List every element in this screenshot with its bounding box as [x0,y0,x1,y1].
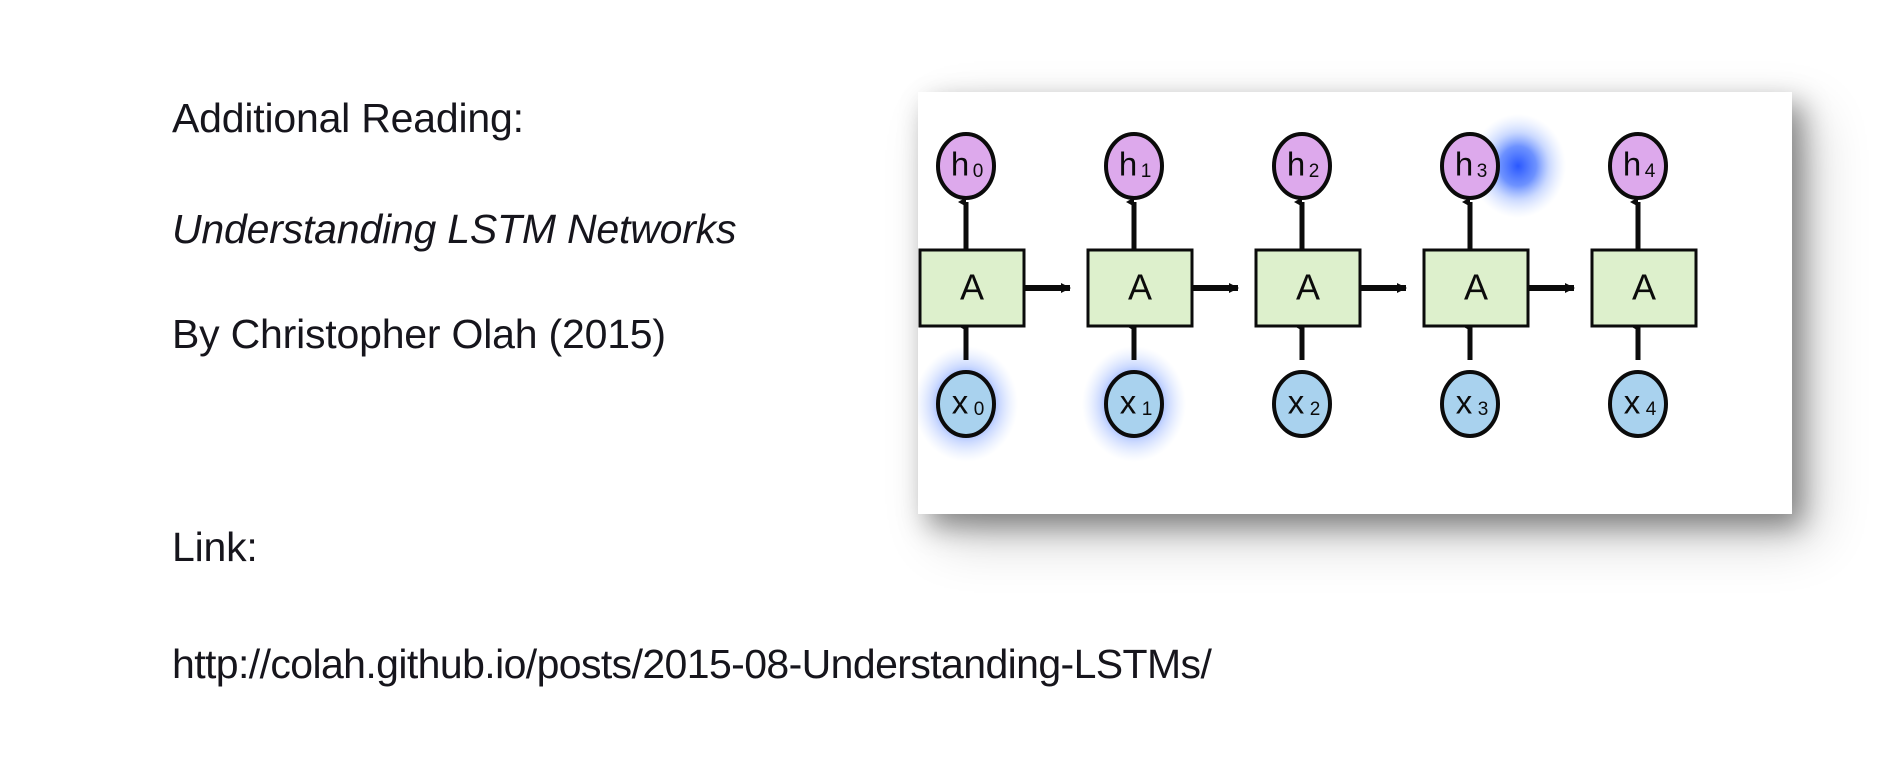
input-node-x1: x 1 [1106,372,1162,436]
rnn-cell-2-label: A [1296,267,1320,308]
output-node-h2: h 2 [1274,134,1330,198]
input-node-x2: x 2 [1274,372,1330,436]
reading-text-column: Additional Reading: Understanding LSTM N… [172,96,872,687]
input-node-x4-base: x [1624,384,1641,421]
output-node-h0: h 0 [938,134,994,198]
output-node-h2-base: h [1287,146,1305,183]
output-node-h0-base: h [951,146,969,183]
rnn-cell-1-label: A [1128,267,1152,308]
rnn-diagram-panel: A A A A A h 0 [918,92,1792,514]
input-node-x0-sub: 0 [974,399,985,420]
link-label: Link: [172,525,872,570]
page-title: Additional Reading: [172,96,872,141]
rnn-cell-0-label: A [960,267,984,308]
article-author: By Christopher Olah (2015) [172,312,872,357]
input-node-x4: x 4 [1610,372,1666,436]
rnn-cell-3-label: A [1464,267,1488,308]
input-node-x3-base: x [1456,384,1473,421]
input-node-x0: x 0 [938,372,994,436]
output-node-h4-sub: 4 [1645,161,1656,182]
rnn-cell-2: A [1256,250,1360,326]
input-node-x2-base: x [1288,384,1305,421]
input-nodes: x 0 x 1 x 2 x 3 x 4 [938,372,1666,436]
rnn-cell-3: A [1424,250,1528,326]
output-node-h3: h 3 [1442,134,1498,198]
output-node-h3-base: h [1455,146,1473,183]
output-node-h1-base: h [1119,146,1137,183]
input-node-x1-sub: 1 [1142,399,1153,420]
rnn-cell-1: A [1088,250,1192,326]
input-node-x2-sub: 2 [1310,399,1321,420]
output-node-h1-sub: 1 [1141,161,1152,182]
output-node-h1: h 1 [1106,134,1162,198]
rnn-cell-4-label: A [1632,267,1656,308]
input-arrows [966,326,1638,360]
input-node-x4-sub: 4 [1646,399,1657,420]
input-node-x0-base: x [952,384,969,421]
output-node-h2-sub: 2 [1309,161,1320,182]
unrolled-rnn-diagram: A A A A A h 0 [918,92,1792,514]
output-node-h4-base: h [1623,146,1641,183]
output-node-h3-sub: 3 [1477,161,1488,182]
rnn-cell-4: A [1592,250,1696,326]
input-node-x1-base: x [1120,384,1137,421]
input-node-x3-sub: 3 [1478,399,1489,420]
rnn-cell-0: A [920,250,1024,326]
output-node-h4: h 4 [1610,134,1666,198]
article-url-link[interactable]: http://colah.github.io/posts/2015-08-Und… [172,642,872,687]
article-title: Understanding LSTM Networks [172,207,872,252]
output-node-h0-sub: 0 [973,161,984,182]
input-node-x3: x 3 [1442,372,1498,436]
